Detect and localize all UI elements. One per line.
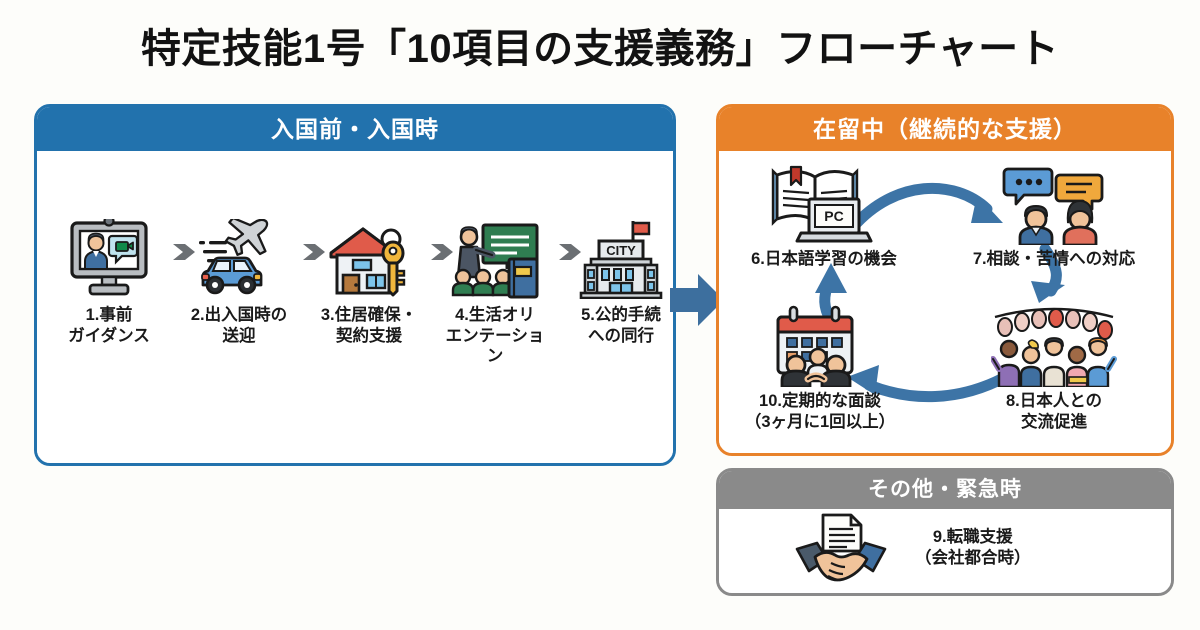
step-4-orientation[interactable]: 4.生活オリ エンテーション xyxy=(439,207,551,367)
house-key-icon xyxy=(313,207,425,299)
panel-other-emergency: その他・緊急時 xyxy=(716,468,1174,596)
svg-text:CITY: CITY xyxy=(606,243,636,258)
panel-during-stay-body: PC 6.日本語学習の機会 xyxy=(719,151,1171,447)
svg-text:PC: PC xyxy=(824,208,843,224)
airplane-car-icon xyxy=(183,207,295,299)
item-8-label: 8.日本人との 交流促進 xyxy=(959,391,1149,432)
item-9-job-change-support[interactable]: 9.転職支援 （会社都合時） xyxy=(719,509,1171,587)
step-3-label: 3.住居確保・ 契約支援 xyxy=(313,305,425,346)
item-8-exchange-promotion[interactable]: 8.日本人との 交流促進 xyxy=(959,301,1149,432)
item-7-label: 7.相談・苦情への対応 xyxy=(959,249,1149,270)
panel-other-body: 9.転職支援 （会社都合時） xyxy=(719,509,1171,587)
item-10-regular-interview[interactable]: 10.定期的な面談 （3ヶ月に1回以上） xyxy=(725,301,915,432)
item-10-label: 10.定期的な面談 （3ヶ月に1回以上） xyxy=(725,391,915,432)
panel-during-stay: 在留中（継続的な支援） xyxy=(716,104,1174,456)
item-7-consultation[interactable]: 7.相談・苦情への対応 xyxy=(959,159,1149,270)
step-1-label: 1.事前 ガイダンス xyxy=(53,305,165,346)
item-6-japanese-learning[interactable]: PC 6.日本語学習の機会 xyxy=(729,159,919,270)
step-2-transport[interactable]: 2.出入国時の 送迎 xyxy=(183,207,295,346)
step-5-label: 5.公的手続 への同行 xyxy=(565,305,676,346)
panel-pre-entry-body: 1.事前 ガイダンス xyxy=(37,151,673,457)
classroom-icon xyxy=(439,207,551,299)
handshake-document-icon xyxy=(793,513,889,583)
calendar-interview-icon xyxy=(725,301,915,387)
step-5-public-procedures[interactable]: CITY xyxy=(565,207,676,346)
step-4-label: 4.生活オリ エンテーション xyxy=(439,305,551,367)
panel-other-header: その他・緊急時 xyxy=(719,471,1171,509)
panel-during-stay-header: 在留中（継続的な支援） xyxy=(719,107,1171,151)
panel-pre-entry-header: 入国前・入国時 xyxy=(37,107,673,151)
city-hall-icon: CITY xyxy=(565,207,676,299)
festival-group-icon xyxy=(959,301,1149,387)
video-monitor-icon xyxy=(53,207,165,299)
consultation-people-icon xyxy=(959,159,1149,245)
step-3-housing[interactable]: 3.住居確保・ 契約支援 xyxy=(313,207,425,346)
page-title: 特定技能1号「10項目の支援義務」フローチャート xyxy=(0,16,1200,74)
panel-pre-entry: 入国前・入国時 xyxy=(34,104,676,466)
step-2-label: 2.出入国時の 送迎 xyxy=(183,305,295,346)
book-laptop-icon: PC xyxy=(729,159,919,245)
item-6-label: 6.日本語学習の機会 xyxy=(729,249,919,270)
item-9-label: 9.転職支援 （会社都合時） xyxy=(915,527,1031,570)
step-1-pre-guidance[interactable]: 1.事前 ガイダンス xyxy=(53,207,165,346)
